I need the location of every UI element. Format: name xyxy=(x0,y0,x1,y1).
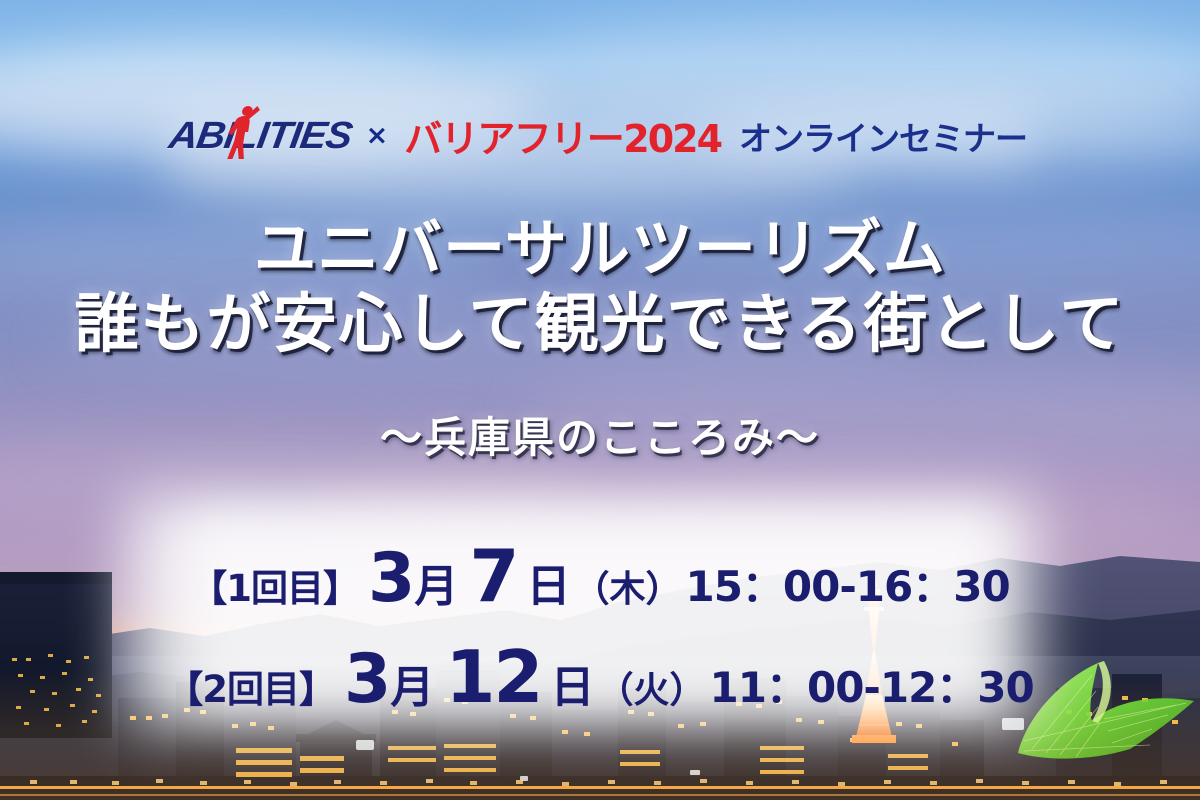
session-month-unit: 月 xyxy=(414,565,458,609)
barrier-free-logo: バリアフリー2024 xyxy=(404,108,721,163)
session-time: 11：00-12：30 xyxy=(710,667,1034,709)
event-year: 2024 xyxy=(623,117,721,161)
session-month-unit: 月 xyxy=(390,666,434,710)
session-weekday: （火） xyxy=(598,673,706,709)
event-logo-row: ABILITIES × バリアフリー2024 オンラインセミナー xyxy=(0,108,1200,163)
abilities-logo: ABILITIES xyxy=(166,117,354,155)
session-day-unit: 日 xyxy=(526,565,570,609)
session-day: 7 xyxy=(469,540,517,612)
abilities-wordmark: ABILITIES xyxy=(166,115,354,157)
session-month: 3 xyxy=(344,646,390,714)
subtitle: 〜兵庫県のこころみ〜 xyxy=(0,404,1200,465)
session-day-unit: 日 xyxy=(551,666,595,710)
session-row: 【1回目】 3 月 7 日 （木） 15：00-16：30 xyxy=(0,540,1200,613)
session-date-list: 【1回目】 3 月 7 日 （木） 15：00-16：30 【2回目】 3 月 … xyxy=(0,540,1200,714)
session-day: 12 xyxy=(445,641,541,713)
headline-line-1: ユニバーサルツーリズム xyxy=(0,216,1200,282)
session-month: 3 xyxy=(368,545,414,613)
session-row: 【2回目】 3 月 12 日 （火） 11：00-12：30 xyxy=(0,641,1200,714)
seminar-banner: ABILITIES × バリアフリー2024 オンラインセミナー ユニバーサルツ… xyxy=(0,0,1200,800)
session-index: 【1回目】 xyxy=(190,570,359,607)
cross-symbol: × xyxy=(362,120,391,151)
session-index: 【2回目】 xyxy=(166,671,335,708)
headline-line-2: 誰もが安心して観光できる街として xyxy=(0,292,1200,360)
session-weekday: （木） xyxy=(573,572,681,608)
session-time: 15：00-16：30 xyxy=(685,566,1009,608)
online-seminar-label: オンラインセミナー xyxy=(739,112,1027,160)
page-title: ユニバーサルツーリズム 誰もが安心して観光できる街として xyxy=(0,216,1200,360)
barrier-free-label: バリアフリー xyxy=(404,117,623,161)
